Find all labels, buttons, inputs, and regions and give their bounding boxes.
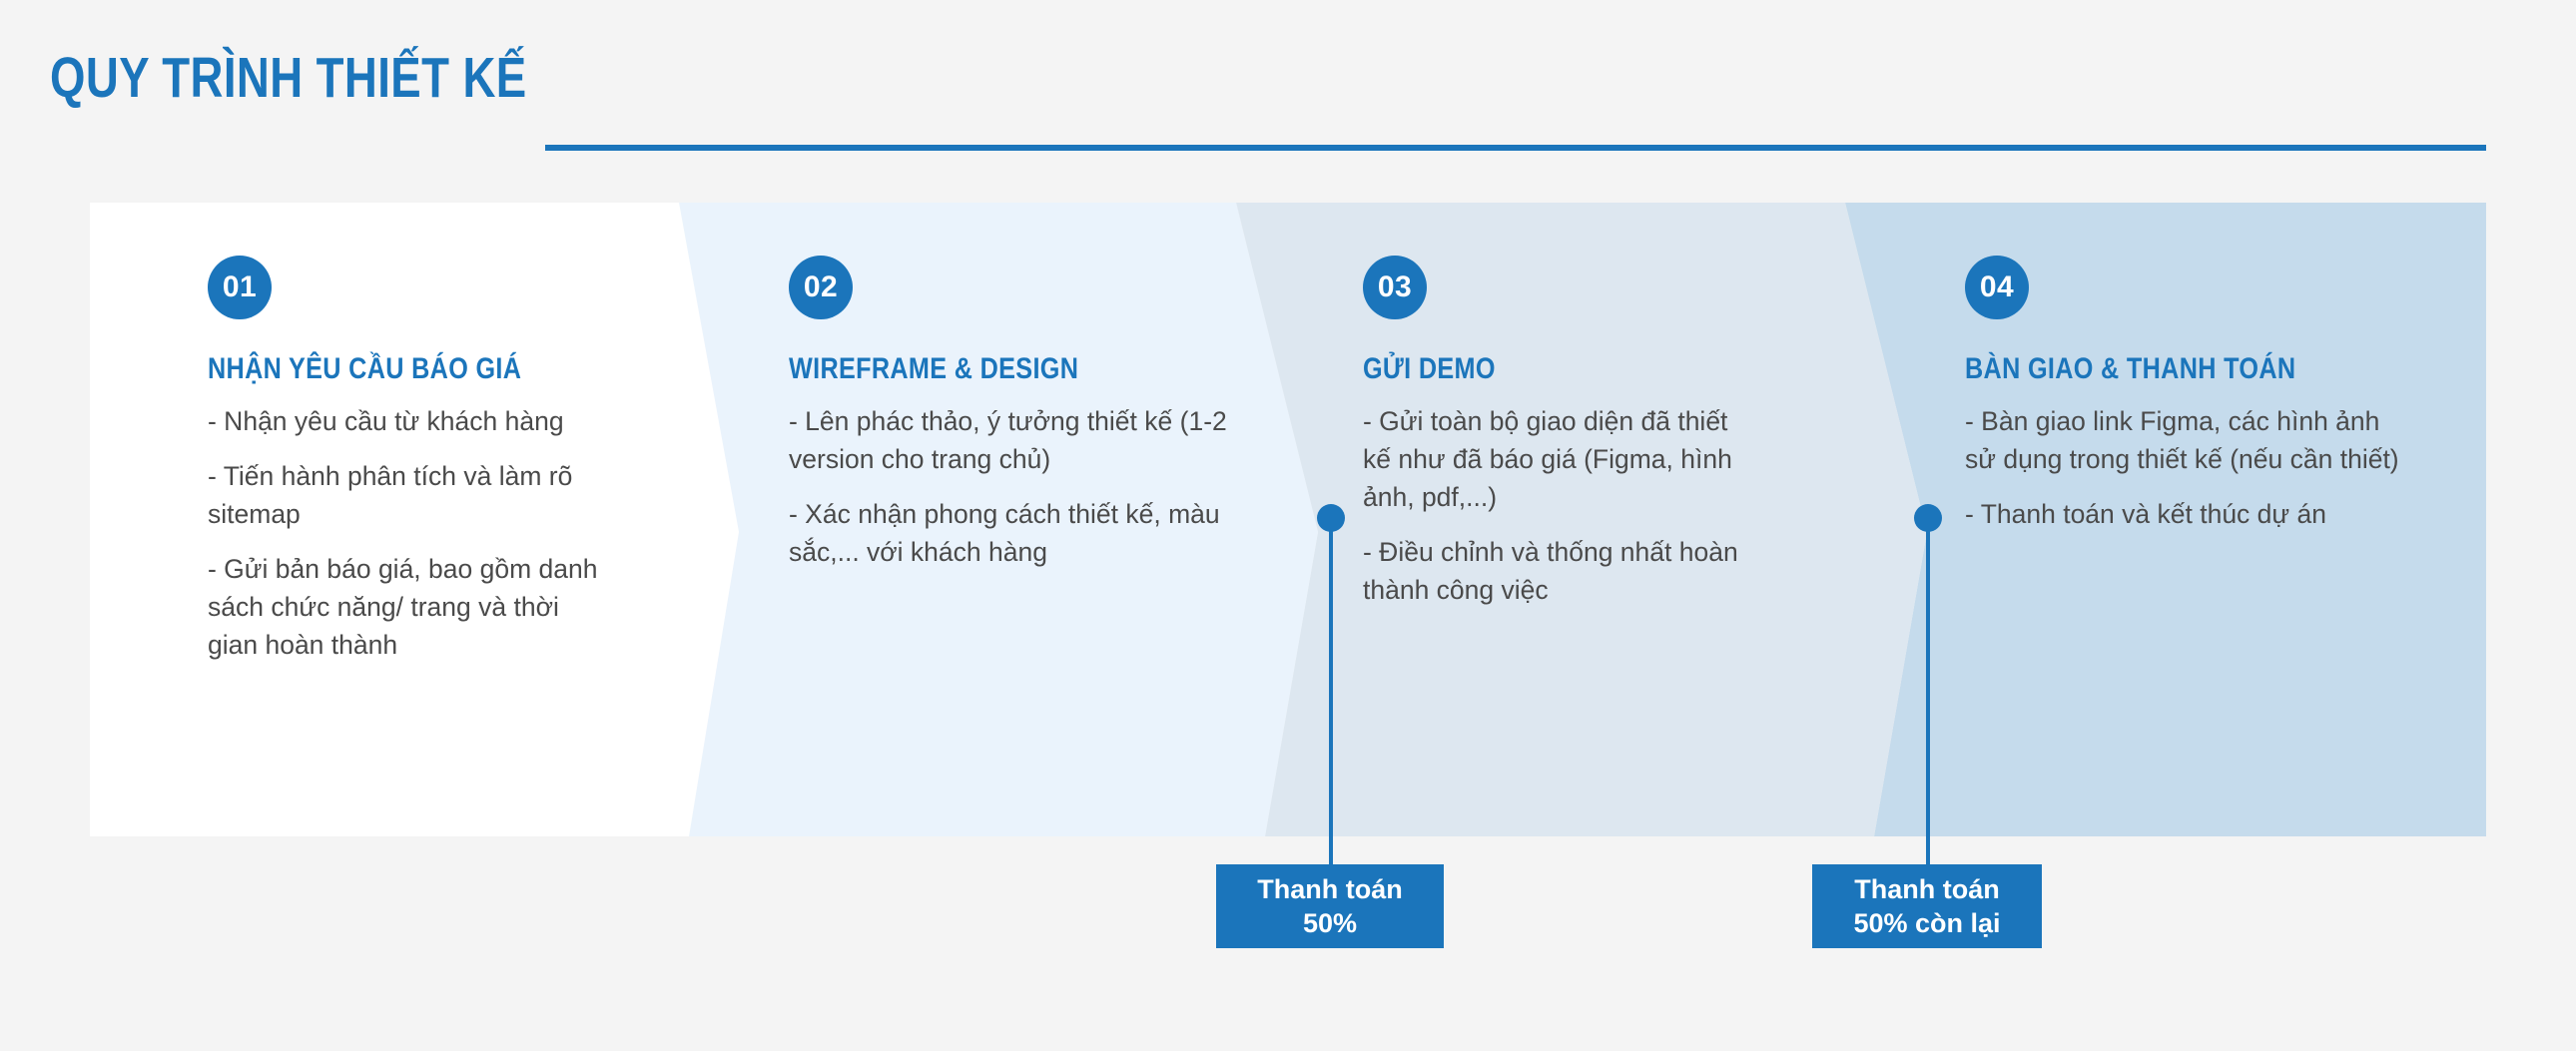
step-badge-4: 04 [1965,256,2029,319]
step-bullet: - Bàn giao link Figma, các hình ảnh sử d… [1965,402,2404,478]
payment-callout-line-2: 50% [1303,906,1357,940]
step-body-1: - Nhận yêu cầu từ khách hàng - Tiến hành… [208,402,615,681]
payment-callout-line-1: Thanh toán [1257,872,1402,906]
step-bullet: - Xác nhận phong cách thiết kế, màu sắc,… [789,495,1238,571]
step-panel-3: 03 GỬI DEMO - Gửi toàn bộ giao diện đã t… [1363,203,1782,836]
payment-callout-2: Thanh toán 50% còn lại [1812,864,2042,948]
payment-connector-line-2 [1926,518,1930,864]
step-bullet: - Tiến hành phân tích và làm rõ sitemap [208,457,615,533]
step-bullet: - Lên phác thảo, ý tưởng thiết kế (1-2 v… [789,402,1238,478]
step-heading-2: WIREFRAME & DESIGN [789,352,1078,386]
step-body-3: - Gửi toàn bộ giao diện đã thiết kế như … [1363,402,1762,626]
step-badge-2: 02 [789,256,853,319]
payment-connector-line-1 [1329,518,1333,864]
step-badge-3: 03 [1363,256,1427,319]
process-band: 01 NHẬN YÊU CẦU BÁO GIÁ - Nhận yêu cầu t… [90,203,2486,836]
step-heading-3: GỬI DEMO [1363,352,1496,386]
title-divider-rule [545,145,2486,151]
step-heading-1: NHẬN YÊU CẦU BÁO GIÁ [208,352,521,386]
step-panel-2: 02 WIREFRAME & DESIGN - Lên phác thảo, ý… [789,203,1208,836]
step-bullet: - Gửi bản báo giá, bao gồm danh sách chứ… [208,550,615,664]
step-panel-4: 04 BÀN GIAO & THANH TOÁN - Bàn giao link… [1965,203,2404,836]
page-title: QUY TRÌNH THIẾT KẾ [50,48,527,108]
payment-callout-line-2: 50% còn lại [1853,906,2000,940]
step-panel-1: 01 NHẬN YÊU CẦU BÁO GIÁ - Nhận yêu cầu t… [208,203,627,836]
page-header: QUY TRÌNH THIẾT KẾ [0,0,2576,203]
step-bullet: - Điều chỉnh và thống nhất hoàn thành cô… [1363,533,1762,609]
step-body-4: - Bàn giao link Figma, các hình ảnh sử d… [1965,402,2404,550]
step-body-2: - Lên phác thảo, ý tưởng thiết kế (1-2 v… [789,402,1238,588]
step-bullet: - Gửi toàn bộ giao diện đã thiết kế như … [1363,402,1762,516]
step-badge-1: 01 [208,256,272,319]
payment-callout-1: Thanh toán 50% [1216,864,1444,948]
step-heading-4: BÀN GIAO & THANH TOÁN [1965,352,2295,386]
payment-callout-line-1: Thanh toán [1854,872,1999,906]
step-bullet: - Nhận yêu cầu từ khách hàng [208,402,615,440]
step-bullet: - Thanh toán và kết thúc dự án [1965,495,2404,533]
